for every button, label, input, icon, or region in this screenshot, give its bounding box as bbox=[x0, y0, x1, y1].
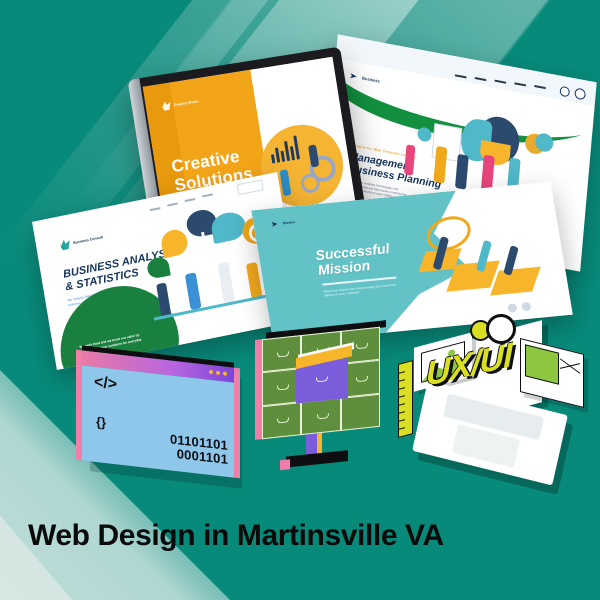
leaf-logo-icon bbox=[60, 239, 71, 251]
file-cabinet-monitor[interactable] bbox=[262, 327, 380, 439]
user-icon[interactable] bbox=[574, 87, 586, 100]
arrow-logo-icon bbox=[271, 220, 280, 229]
search-icon[interactable] bbox=[559, 86, 570, 98]
analysis-cta-button[interactable] bbox=[237, 179, 264, 195]
leaf-logo-icon bbox=[161, 101, 171, 111]
cabinet-drawer[interactable] bbox=[262, 402, 301, 439]
window-controls[interactable] bbox=[209, 370, 227, 376]
nav-dash bbox=[514, 82, 526, 86]
drawer-handle-icon bbox=[316, 376, 328, 382]
monitor-logo-text: Creative Studio bbox=[174, 99, 199, 107]
nav-dash bbox=[185, 198, 196, 202]
cabinet-drawer[interactable] bbox=[301, 398, 341, 435]
drawer-handle-icon bbox=[277, 351, 289, 357]
wireframe-cross-line bbox=[560, 363, 580, 369]
nav-dash bbox=[494, 80, 506, 84]
illus-person-blue bbox=[185, 272, 202, 310]
window-dot-icon[interactable] bbox=[223, 371, 227, 375]
cabinet-open-drawer[interactable] bbox=[296, 358, 348, 403]
drawer-handle-icon bbox=[356, 343, 368, 349]
drawer-handle-icon bbox=[356, 376, 368, 382]
mission-pad-1 bbox=[446, 261, 499, 292]
wireframe-image-block bbox=[525, 344, 559, 384]
analysis-logo-text: Business Consult bbox=[73, 235, 103, 245]
nav-dash bbox=[455, 74, 467, 78]
page-title: Web Design in Martinsville VA bbox=[28, 519, 444, 553]
cabinet-base-accent bbox=[280, 459, 290, 470]
mission-dots bbox=[507, 302, 531, 313]
nav-dash bbox=[475, 77, 487, 81]
cabinet-stand-base bbox=[286, 450, 348, 468]
uxui-laptop[interactable]: UX/UI bbox=[392, 318, 582, 478]
lightbulb-icon bbox=[160, 228, 190, 259]
monitor-bar-chart bbox=[268, 133, 300, 163]
code-tag-icon: </> bbox=[94, 375, 117, 394]
analysis-bar-chart bbox=[186, 232, 206, 251]
nav-dash bbox=[534, 85, 546, 89]
drawer-handle-icon bbox=[317, 413, 329, 419]
ruler-icon bbox=[398, 360, 413, 438]
cabinet-drawer[interactable] bbox=[341, 394, 380, 431]
mission-pad-2 bbox=[490, 267, 541, 296]
mission-logo-text: Mission bbox=[282, 220, 295, 225]
arrow-logo-icon bbox=[350, 71, 360, 82]
code-browser-window[interactable]: </> {} 01101101 0001101 bbox=[82, 350, 234, 477]
illus-person-navy bbox=[455, 154, 469, 190]
nav-dash bbox=[150, 207, 161, 211]
nav-dash bbox=[202, 193, 213, 197]
window-dot-icon[interactable] bbox=[209, 370, 213, 374]
mgmt-logo-text: Business bbox=[362, 75, 380, 83]
drawer-handle-icon bbox=[277, 384, 289, 390]
code-window-right-edge bbox=[233, 368, 240, 479]
nav-dash bbox=[167, 202, 178, 206]
illus-table bbox=[154, 293, 276, 321]
code-brace-icon: {} bbox=[96, 415, 106, 429]
illus-person-white bbox=[217, 262, 234, 304]
illus-person-yellow bbox=[433, 146, 447, 184]
poster-canvas: Business Creative for Web Template Landi… bbox=[0, 0, 600, 600]
drawer-handle-icon bbox=[277, 417, 289, 423]
code-window-body: </> {} 01101101 0001101 bbox=[82, 365, 234, 477]
window-dot-icon[interactable] bbox=[216, 371, 220, 375]
binary-text: 01101101 0001101 bbox=[170, 432, 228, 467]
